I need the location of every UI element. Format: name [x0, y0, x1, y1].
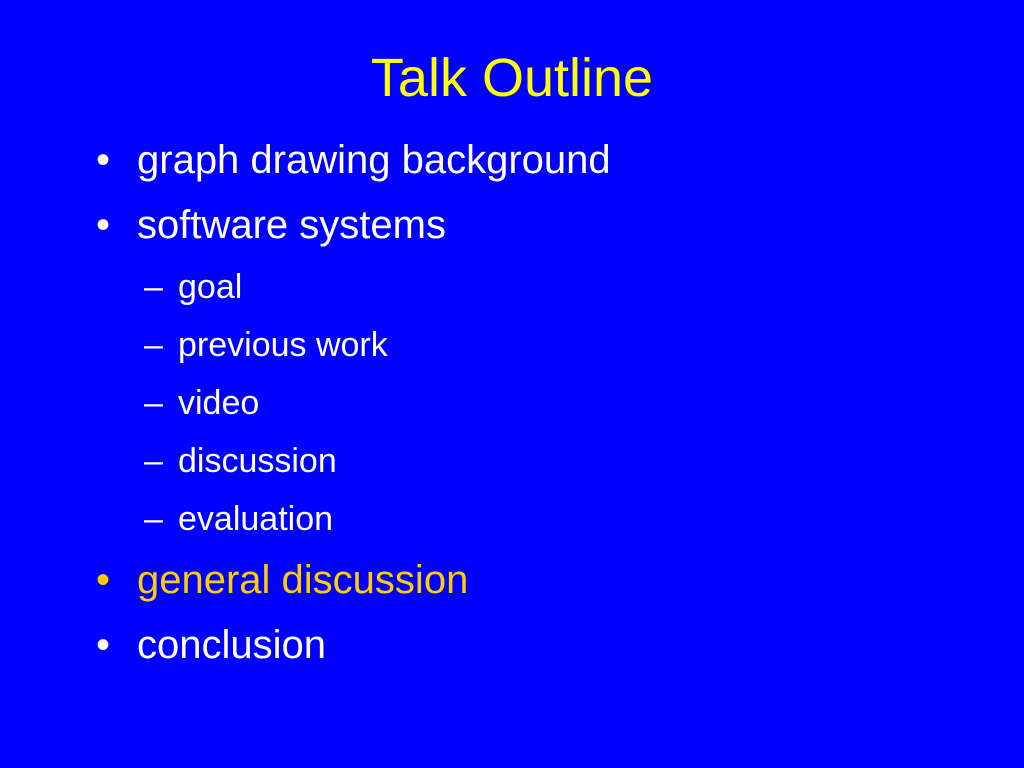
dash-marker-icon: – — [144, 324, 178, 366]
dash-marker-icon: – — [144, 498, 178, 540]
outline-list: • graph drawing background • software sy… — [0, 136, 1024, 686]
bullet-marker-icon: • — [96, 201, 137, 249]
list-item: – discussion — [0, 440, 1024, 498]
list-item: – goal — [0, 266, 1024, 324]
list-item-label: previous work — [178, 324, 388, 366]
list-item: – video — [0, 382, 1024, 440]
list-item-label: graph drawing background — [137, 136, 611, 184]
slide-title: Talk Outline — [0, 46, 1024, 110]
dash-marker-icon: – — [144, 382, 178, 424]
list-item-label: evaluation — [178, 498, 333, 540]
list-item-label: conclusion — [137, 621, 326, 669]
list-item-label: software systems — [137, 201, 446, 249]
dash-marker-icon: – — [144, 266, 178, 308]
list-item: • software systems — [0, 201, 1024, 266]
list-item-label: discussion — [178, 440, 337, 482]
list-item: • graph drawing background — [0, 136, 1024, 201]
list-item-label: goal — [178, 266, 242, 308]
presentation-slide: Talk Outline • graph drawing background … — [0, 0, 1024, 768]
list-item: • conclusion — [0, 621, 1024, 686]
list-item: – previous work — [0, 324, 1024, 382]
bullet-marker-icon: • — [96, 621, 137, 669]
list-item: – evaluation — [0, 498, 1024, 556]
bullet-marker-icon: • — [96, 556, 137, 604]
list-item-highlighted: • general discussion — [0, 556, 1024, 621]
list-item-label: general discussion — [137, 556, 468, 604]
list-item-label: video — [178, 382, 259, 424]
bullet-marker-icon: • — [96, 136, 137, 184]
dash-marker-icon: – — [144, 440, 178, 482]
